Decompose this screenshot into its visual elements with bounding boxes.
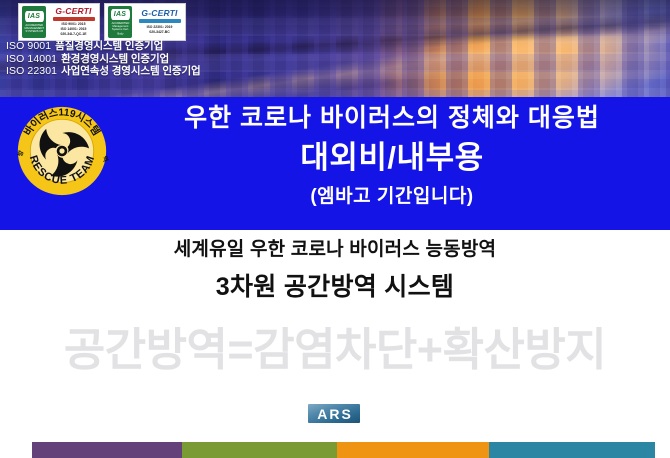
iso-code-9001: ISO 9001 — [6, 40, 51, 52]
biohazard-rescue-team-logo: 바이러스119시스템 RESCUE TEAM 방 역 — [14, 103, 110, 199]
gcerti-band — [53, 17, 95, 21]
gcerti-wordmark: G-CERTI — [55, 7, 91, 16]
ias-accreditation-icon-2: IAS ACCREDITEDManagementSystems Cert.Bod… — [108, 6, 132, 38]
iso-text-14001: 환경경영시스템 인증기업 — [61, 53, 169, 65]
footer-color-bar — [32, 442, 655, 458]
color-bar-segment-purple — [32, 442, 182, 458]
main-headline-2: 3차원 공간방역 시스템 — [0, 272, 670, 303]
iso-text-22301: 사업연속성 경영시스템 인증기업 — [61, 65, 200, 77]
gcerti-logo-1: G-CERTI ISO 9001: 2015ISO 14001: 2015020… — [51, 7, 96, 37]
watermark-text: 공간방역=감염차단+확산방지 — [0, 322, 670, 378]
iso-text-9001: 품질경영시스템 인증기업 — [55, 40, 163, 52]
ias-sublabel: ACCREDITEDMANAGEMENTSYSTEMS CB — [24, 23, 44, 33]
color-bar-segment-teal — [489, 442, 655, 458]
iso-certification-list: ISO 9001품질경영시스템 인증기업 ISO 14001환경경영시스템 인증… — [6, 41, 236, 79]
ias-label-2: IAS — [111, 9, 130, 20]
color-bar-segment-orange — [337, 442, 489, 458]
color-bar-segment-green — [182, 442, 337, 458]
gcerti-detail-lines-2: ISO 22301: 2019020-3427-BC — [147, 25, 173, 35]
certification-badge-2: IAS ACCREDITEDManagementSystems Cert.Bod… — [104, 3, 186, 41]
iso-line-9001: ISO 9001품질경영시스템 인증기업 — [6, 41, 236, 53]
banner-title: 우한 코로나 바이러스의 정체와 대응법 — [118, 104, 666, 133]
banner-embargo-note: (엠바고 기간입니다) — [118, 185, 666, 209]
iso-code-14001: ISO 14001 — [6, 53, 57, 65]
certification-badge-1: IAS ACCREDITEDMANAGEMENTSYSTEMS CB G-CER… — [18, 3, 100, 41]
ias-sublabel-2: ACCREDITEDManagementSystems Cert.Body — [111, 22, 129, 36]
gcerti-logo-2: G-CERTI ISO 22301: 2019020-3427-BC — [137, 9, 182, 34]
ias-label: IAS — [25, 11, 44, 22]
ias-accreditation-icon: IAS ACCREDITEDMANAGEMENTSYSTEMS CB — [22, 6, 46, 38]
iso-code-22301: ISO 22301 — [6, 65, 57, 77]
ars-brand-label: ARS — [315, 407, 353, 421]
banner-subtitle: 대외비/내부용 — [118, 139, 666, 177]
gcerti-wordmark-2: G-CERTI — [141, 9, 177, 18]
iso-line-14001: ISO 14001환경경영시스템 인증기업 — [6, 54, 236, 66]
iso-line-22301: ISO 22301사업연속성 경영시스템 인증기업 — [6, 66, 236, 78]
main-headline-1: 세계유일 우한 코로나 바이러스 능동방역 — [0, 238, 670, 262]
gcerti-band-2 — [139, 19, 181, 23]
ars-brand-mark: ARS — [308, 404, 360, 423]
gcerti-detail-lines: ISO 9001: 2015ISO 14001: 2015020-34L7-QC… — [60, 22, 86, 37]
presentation-slide: IAS ACCREDITEDMANAGEMENTSYSTEMS CB G-CER… — [0, 0, 670, 458]
